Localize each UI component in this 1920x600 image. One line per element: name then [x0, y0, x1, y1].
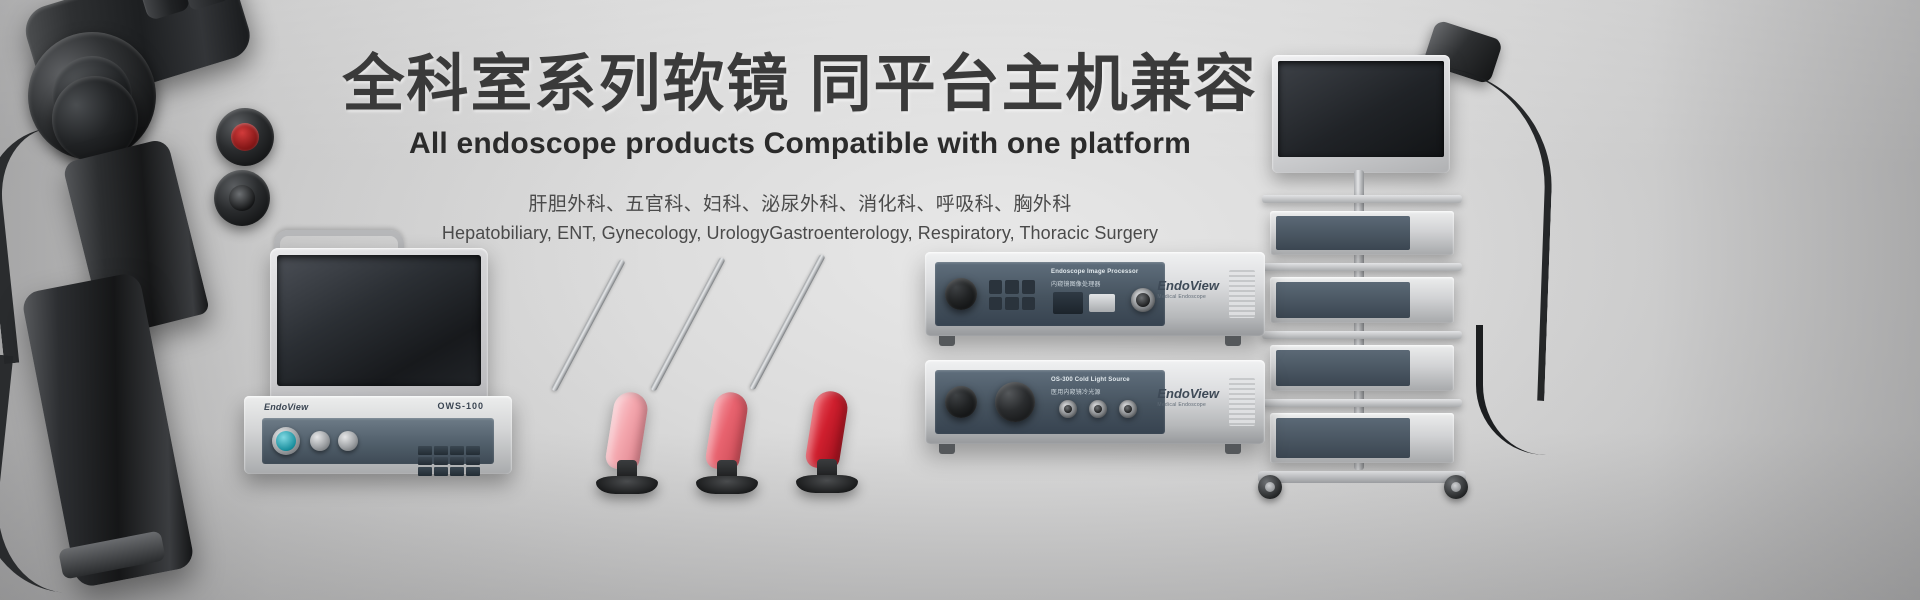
- console-base: EndoView OWS-100: [244, 396, 512, 474]
- specialties-list-en: Hepatobiliary, ENT, Gynecology, UrologyG…: [300, 223, 1300, 244]
- console-secondary-knob: [310, 431, 330, 451]
- cart-device-lower: [1270, 345, 1454, 391]
- light-source-scope-port: [945, 386, 977, 418]
- instrument-shaft: [749, 254, 826, 391]
- light-source-button-a: [1059, 400, 1077, 418]
- specialties-list-cn: 肝胆外科、五官科、妇科、泌尿外科、消化科、呼吸科、胸外科: [300, 189, 1300, 216]
- processor-model-label-cn: 内窥镜图像处理器: [1051, 279, 1101, 288]
- processor-vent-grille: [1229, 270, 1255, 318]
- cart-shelf: [1262, 331, 1462, 339]
- light-source-front-panel: OS-300 Cold Light Source 医用内窥镜冷光源: [935, 370, 1165, 434]
- console-model-label: OWS-100: [437, 401, 484, 411]
- page-subtitle: All endoscope products Compatible with o…: [300, 127, 1300, 161]
- scope-suction-valve-icon: [216, 108, 274, 166]
- light-source-foot: [1225, 444, 1241, 454]
- processor-port-block: [1053, 292, 1083, 314]
- video-console-image: EndoView OWS-100: [228, 248, 728, 488]
- image-processor-unit: Endoscope Image Processor 内窥镜图像处理器 EndoV…: [925, 252, 1265, 336]
- console-brand-label: EndoView: [264, 402, 308, 412]
- brand-subtext: Medical Endoscope: [1157, 294, 1219, 300]
- console-monitor: [270, 248, 488, 408]
- cart-shelf: [1262, 399, 1462, 407]
- cart-base-frame: [1258, 471, 1466, 483]
- banner-root: EndoView OWS-100: [0, 0, 1920, 600]
- brand-text: EndoView: [1157, 386, 1219, 401]
- instrument-stand: [796, 475, 858, 493]
- processor-scope-connector: [1131, 288, 1155, 312]
- page-title: 全科室系列软镜 同平台主机兼容: [300, 52, 1300, 117]
- cart-device-panel: [1276, 350, 1410, 386]
- console-main-knob: [272, 427, 300, 455]
- light-source-vent-grille: [1229, 378, 1255, 426]
- console-control-panel: [262, 418, 494, 464]
- brand-subtext: Medical Endoscope: [1157, 402, 1219, 408]
- cart-hanging-scope-tube-lower: [1476, 325, 1546, 455]
- console-tertiary-knob: [338, 431, 358, 451]
- rigid-instrument-red: [712, 255, 862, 490]
- led-light-source-unit: OS-300 Cold Light Source 医用内窥镜冷光源 EndoVi…: [925, 360, 1265, 444]
- light-source-model-label-cn: 医用内窥镜冷光源: [1051, 387, 1101, 396]
- scope-air-water-valve-icon: [214, 170, 270, 226]
- brand-text: EndoView: [1157, 278, 1219, 293]
- processor-front-panel: Endoscope Image Processor 内窥镜图像处理器: [935, 262, 1165, 326]
- console-monitor-screen: [277, 255, 481, 386]
- processor-keypad: [989, 280, 1035, 310]
- cart-monitor-screen: [1278, 61, 1444, 157]
- cart-caster-right: [1444, 475, 1468, 499]
- light-source-brightness-knob: [995, 382, 1035, 422]
- cart-device-middle: [1270, 277, 1454, 323]
- processor-model-label: Endoscope Image Processor: [1051, 269, 1138, 275]
- processor-main-dial: [945, 278, 977, 310]
- light-source-model-label: OS-300 Cold Light Source: [1051, 377, 1130, 383]
- processor-stack-image: Endoscope Image Processor 内窥镜图像处理器 EndoV…: [925, 252, 1285, 462]
- light-source-button-c: [1119, 400, 1137, 418]
- processor-foot: [1225, 336, 1241, 346]
- console-keypad: [418, 446, 480, 476]
- processor-brand-label: EndoView Medical Endoscope: [1157, 278, 1219, 300]
- cart-shelf: [1262, 263, 1462, 271]
- cart-device-bottom: [1270, 413, 1454, 463]
- light-source-button-b: [1089, 400, 1107, 418]
- cart-device-panel: [1276, 418, 1410, 458]
- light-source-brand-label: EndoView Medical Endoscope: [1157, 386, 1219, 408]
- light-source-foot: [939, 444, 955, 454]
- cart-device-panel: [1276, 282, 1410, 318]
- endoscopy-cart-image: [1280, 25, 1610, 585]
- banner-text-block: 全科室系列软镜 同平台主机兼容 All endoscope products C…: [300, 52, 1300, 244]
- cart-caster-left: [1258, 475, 1282, 499]
- processor-usb-port-icon: [1089, 294, 1115, 312]
- processor-foot: [939, 336, 955, 346]
